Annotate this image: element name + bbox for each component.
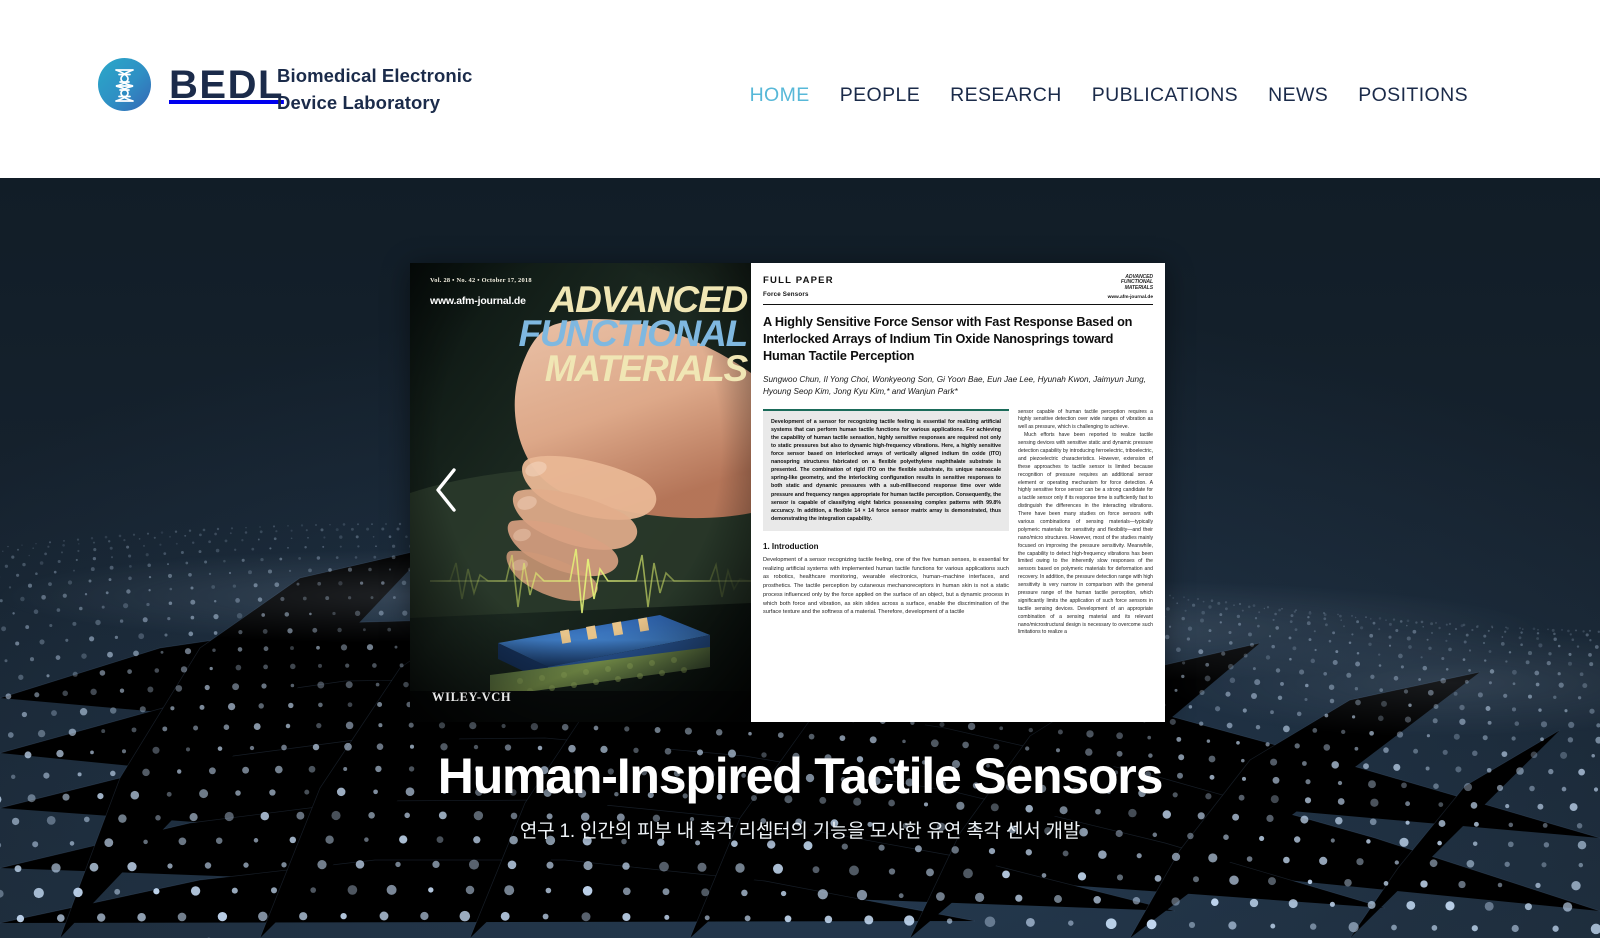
nav-item-research[interactable]: RESEARCH [950,84,1062,107]
journal-cover-image: Vol. 28 • No. 42 • October 17, 2018 www.… [410,263,751,722]
article-intro-text: Development of a sensor recognizing tact… [763,556,1009,617]
article-abstract-box: Development of a sensor for recognizing … [763,409,1009,531]
cover-title-line-3: MATERIALS [486,352,747,386]
brand-wordmark: BEDL [169,65,284,105]
brand-full-name: Biomedical Electronic Device Laboratory [277,63,472,117]
cover-publisher: WILEY-VCH [432,690,511,705]
article-authors: Sungwoo Chun, Il Yong Choi, Wonkyeong So… [763,374,1153,398]
article-section-label: FULL PAPER [763,275,834,286]
article-column-left: Development of a sensor for recognizing … [763,409,1009,638]
afm-journal-mark: ADVANCED FUNCTIONAL MATERIALS www.afm-jo… [1108,275,1153,300]
article-section-topic: Force Sensors [763,291,834,298]
carousel-prev-button[interactable] [428,465,464,521]
article-intro-heading: 1. Introduction [763,542,1009,551]
main-navigation: HOME PEOPLE RESEARCH PUBLICATIONS NEWS P… [750,84,1468,107]
article-divider [763,304,1153,305]
hero-caption: Human-Inspired Tactile Sensors 연구 1. 인간의… [0,748,1600,843]
article-abstract-text: Development of a sensor for recognizing … [771,418,1001,523]
brand-full-line-2: Device Laboratory [277,90,472,117]
article-title: A Highly Sensitive Force Sensor with Fas… [763,314,1153,365]
nav-item-news[interactable]: NEWS [1268,84,1328,107]
article-body: Development of a sensor for recognizing … [763,409,1153,638]
article-right-paragraph-1: sensor capable of human tactile percepti… [1018,409,1153,433]
hero-carousel-slide[interactable]: Vol. 28 • No. 42 • October 17, 2018 www.… [410,263,1165,722]
cover-title-line-1: ADVANCED [486,283,747,317]
article-topbar: FULL PAPER Force Sensors ADVANCED FUNCTI… [763,275,1153,300]
hero-section: Vol. 28 • No. 42 • October 17, 2018 www.… [0,178,1600,938]
article-column-right: sensor capable of human tactile percepti… [1018,409,1153,638]
article-right-paragraph-2: Much efforts have been reported to reali… [1018,432,1153,637]
nav-item-publications[interactable]: PUBLICATIONS [1092,84,1238,107]
journal-article-page: FULL PAPER Force Sensors ADVANCED FUNCTI… [751,263,1165,722]
article-section: FULL PAPER Force Sensors [763,275,834,298]
brand-logo-link[interactable]: BEDL [98,58,284,111]
cover-journal-title: ADVANCED FUNCTIONAL MATERIALS [486,283,747,386]
chevron-left-icon [433,467,459,518]
dna-helix-icon [98,58,151,111]
hero-title: Human-Inspired Tactile Sensors [0,748,1600,804]
nav-item-home[interactable]: HOME [750,84,810,107]
nav-item-positions[interactable]: POSITIONS [1358,84,1468,107]
site-header: BEDL Biomedical Electronic Device Labora… [0,0,1600,178]
hero-subtitle: 연구 1. 인간의 피부 내 촉각 리셉터의 기능을 모사한 유연 촉각 센서 … [0,816,1600,843]
afm-mark-url: www.afm-journal.de [1108,295,1153,300]
brand-full-line-1: Biomedical Electronic [277,63,472,90]
nav-item-people[interactable]: PEOPLE [840,84,920,107]
cover-title-line-2: FUNCTIONAL [486,317,747,351]
afm-mark-line-3: MATERIALS [1108,286,1153,291]
